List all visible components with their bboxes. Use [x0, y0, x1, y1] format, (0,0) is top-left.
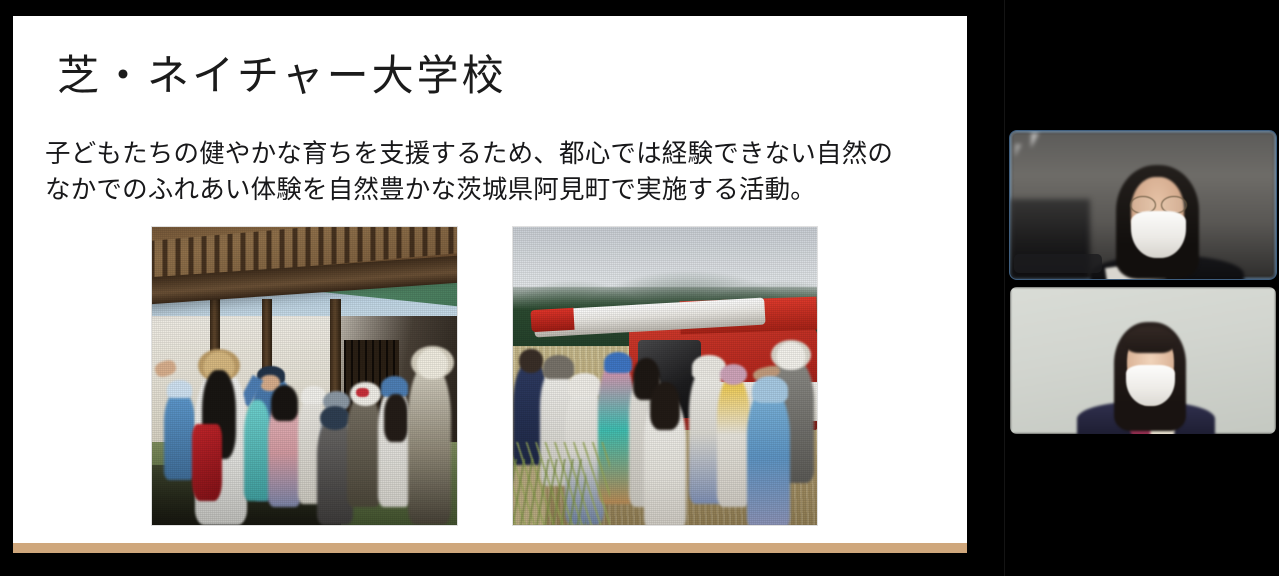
participant-2-video [1010, 287, 1276, 434]
slide-body-line-2: なかでのふれあい体験を自然豊かな茨城県阿見町で実施する活動。 [45, 172, 945, 208]
slide-body-text: 子どもたちの健やかな育ちを支援するため、都心では経験できない自然の なかでのふれ… [45, 136, 945, 208]
photo-right-canvas: YH [513, 227, 817, 525]
slide-title: 芝・ネイチャー大学校 [57, 54, 507, 101]
participant-1-name-label [1014, 254, 1102, 273]
slide-accent-bar [13, 543, 967, 553]
panel-divider [1004, 0, 1005, 576]
shared-slide[interactable]: 芝・ネイチャー大学校 子どもたちの健やかな育ちを支援するため、都心では経験できな… [13, 16, 967, 553]
slide-photo-right: YH [513, 227, 817, 525]
participant-tile-1[interactable] [1010, 131, 1276, 279]
slide-body-line-1: 子どもたちの健やかな育ちを支援するため、都心では経験できない自然の [45, 136, 945, 172]
photo-left-canvas [152, 227, 457, 525]
participant-filmstrip [1008, 0, 1279, 576]
glasses-icon [1130, 196, 1187, 212]
slide-photo-left [152, 227, 457, 525]
participant-tile-2[interactable] [1010, 287, 1276, 434]
meeting-stage: 芝・ネイチャー大学校 子どもたちの健やかな育ちを支援するため、都心では経験できな… [0, 0, 1279, 576]
